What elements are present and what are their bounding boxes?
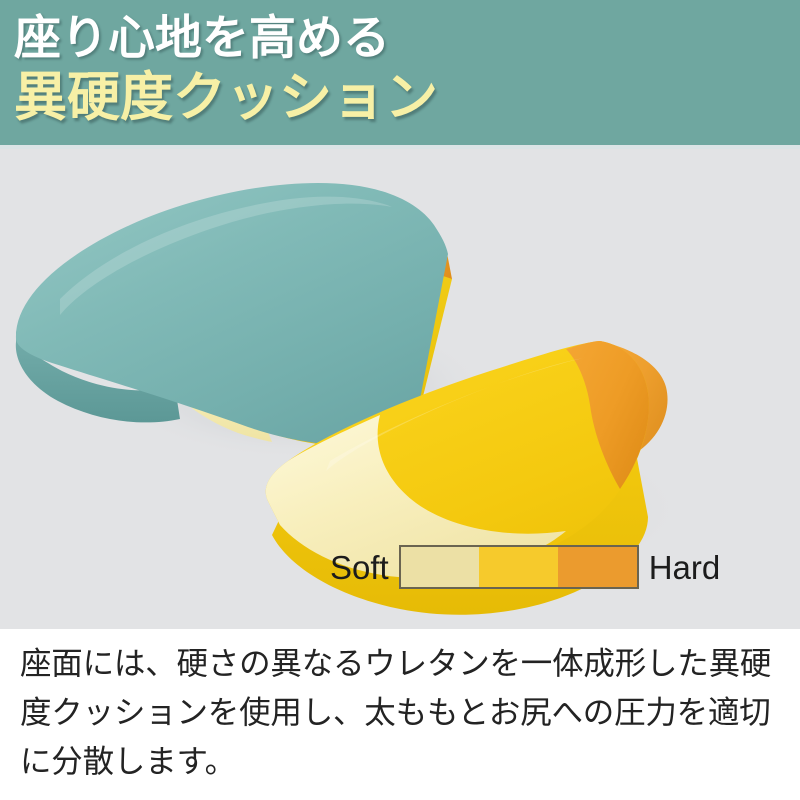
seat-cover-piece (16, 183, 452, 447)
product-feature-panel: 座り心地を高める 異硬度クッション (0, 0, 800, 800)
legend-label-hard: Hard (649, 551, 721, 584)
hardness-legend: Soft Hard (330, 541, 760, 593)
legend-label-soft: Soft (330, 551, 389, 584)
page-title-line-1: 座り心地を高める (14, 9, 390, 67)
legend-segment-hard (558, 547, 637, 587)
legend-segment-soft (401, 547, 480, 587)
caption-text: 座面には、硬さの異なるウレタンを一体成形した異硬度クッションを使用し、太ももとお… (20, 639, 792, 786)
caption-section: 座面には、硬さの異なるウレタンを一体成形した異硬度クッションを使用し、太ももとお… (0, 629, 800, 800)
legend-segment-medium (479, 547, 558, 587)
hardness-gradient-bar (399, 545, 639, 589)
page-title-line-2: 異硬度クッション (14, 66, 438, 130)
header-banner: 座り心地を高める 異硬度クッション (0, 0, 800, 145)
